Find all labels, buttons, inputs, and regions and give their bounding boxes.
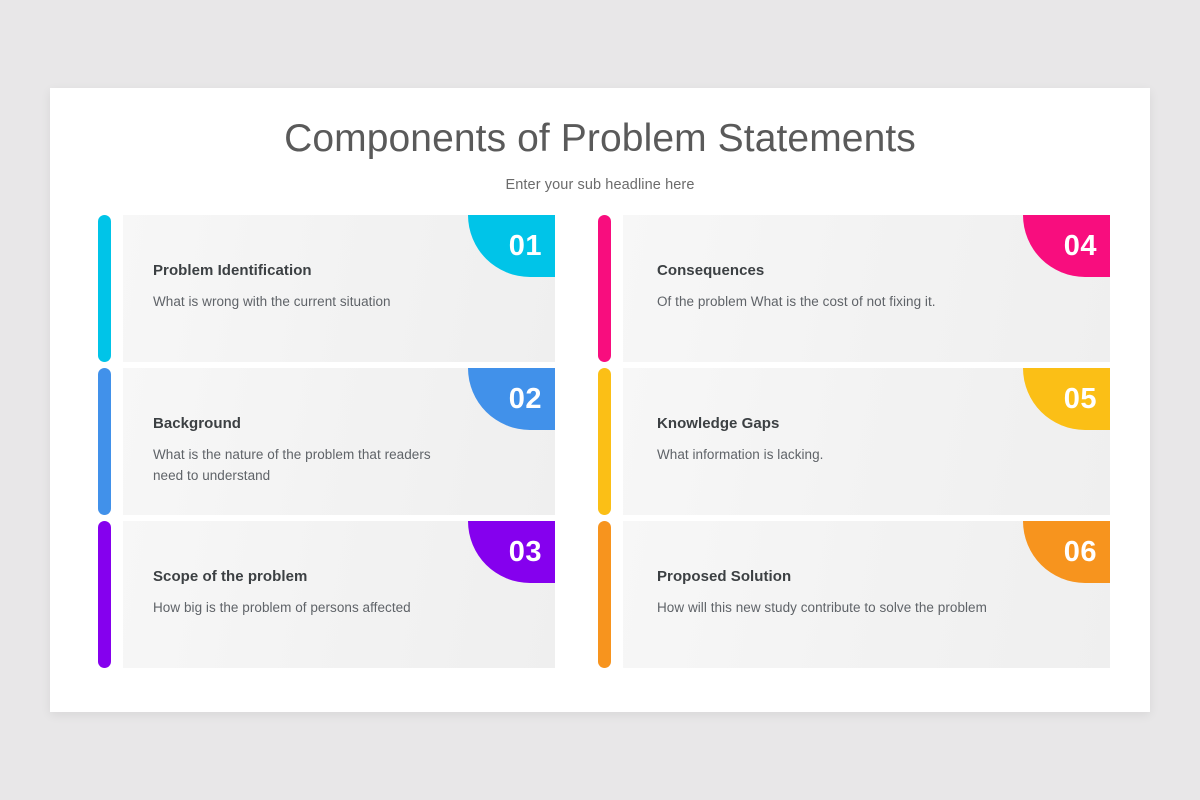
badge-number-03: 03 [509,538,542,567]
page-title: Components of Problem Statements [50,116,1150,163]
component-card-05[interactable]: 05 Knowledge Gaps What information is la… [598,368,1110,515]
component-card-01[interactable]: 01 Problem Identification What is wrong … [98,215,555,362]
card-description-05: What information is lacking. [657,444,1014,466]
card-title-06: Proposed Solution [657,567,1014,587]
card-body-05: 05 Knowledge Gaps What information is la… [623,368,1110,515]
card-body-04: 04 Consequences Of the problem What is t… [623,215,1110,362]
card-title-02: Background [153,414,459,434]
card-body-03: 03 Scope of the problem How big is the p… [123,521,555,668]
page-subtitle: Enter your sub headline here [50,177,1150,193]
component-card-06[interactable]: 06 Proposed Solution How will this new s… [598,521,1110,668]
card-text-03: Scope of the problem How big is the prob… [153,567,459,618]
accent-bar-01 [98,215,111,362]
badge-number-02: 02 [509,385,542,414]
accent-bar-03 [98,521,111,668]
card-description-02: What is the nature of the problem that r… [153,444,459,488]
card-description-04: Of the problem What is the cost of not f… [657,291,1014,313]
accent-bar-05 [598,368,611,515]
number-badge-03: 03 [468,521,555,583]
number-badge-06: 06 [1023,521,1110,583]
card-text-04: Consequences Of the problem What is the … [657,261,1014,312]
badge-number-06: 06 [1064,538,1097,567]
slide-canvas: Components of Problem Statements Enter y… [50,88,1150,712]
card-text-05: Knowledge Gaps What information is lacki… [657,414,1014,465]
component-card-02[interactable]: 02 Background What is the nature of the … [98,368,555,515]
badge-number-01: 01 [509,232,542,261]
card-description-06: How will this new study contribute to so… [657,597,1014,619]
component-card-04[interactable]: 04 Consequences Of the problem What is t… [598,215,1110,362]
card-text-02: Background What is the nature of the pro… [153,414,459,487]
card-body-01: 01 Problem Identification What is wrong … [123,215,555,362]
slide-header: Components of Problem Statements Enter y… [50,88,1150,193]
card-title-01: Problem Identification [153,261,459,281]
number-badge-04: 04 [1023,215,1110,277]
number-badge-05: 05 [1023,368,1110,430]
badge-number-04: 04 [1064,232,1097,261]
accent-bar-04 [598,215,611,362]
card-title-05: Knowledge Gaps [657,414,1014,434]
component-card-03[interactable]: 03 Scope of the problem How big is the p… [98,521,555,668]
card-description-01: What is wrong with the current situation [153,291,459,313]
components-grid: 01 Problem Identification What is wrong … [98,215,1110,668]
card-title-03: Scope of the problem [153,567,459,587]
card-body-06: 06 Proposed Solution How will this new s… [623,521,1110,668]
accent-bar-02 [98,368,111,515]
card-text-01: Problem Identification What is wrong wit… [153,261,459,312]
card-description-03: How big is the problem of persons affect… [153,597,459,619]
card-text-06: Proposed Solution How will this new stud… [657,567,1014,618]
accent-bar-06 [598,521,611,668]
number-badge-01: 01 [468,215,555,277]
card-title-04: Consequences [657,261,1014,281]
number-badge-02: 02 [468,368,555,430]
badge-number-05: 05 [1064,385,1097,414]
card-body-02: 02 Background What is the nature of the … [123,368,555,515]
